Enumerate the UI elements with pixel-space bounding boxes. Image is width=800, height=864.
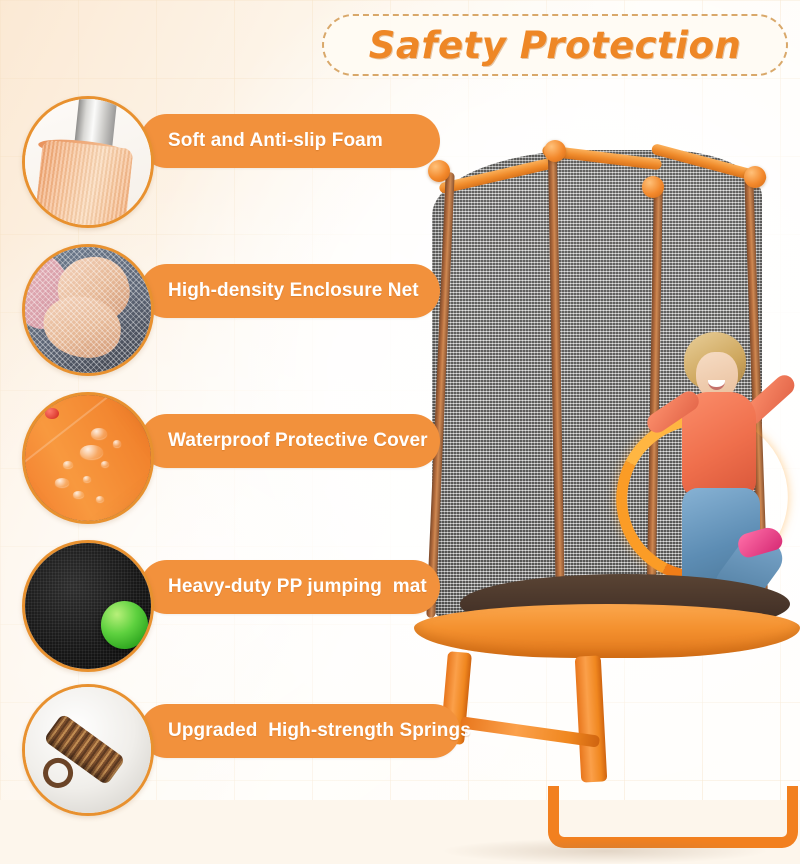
page-title: Safety Protection <box>369 24 741 67</box>
feature-label-3: Waterproof Protective Cover <box>168 430 428 452</box>
water-droplets-on-orange-fabric-icon <box>25 395 151 521</box>
feature-pill-4[interactable]: Heavy-duty PP jumping mat <box>140 560 440 614</box>
feature-thumbnail-5[interactable] <box>22 684 154 816</box>
feature-pill-3[interactable]: Waterproof Protective Cover <box>140 414 440 468</box>
feature-pill-2[interactable]: High-density Enclosure Net <box>140 264 440 318</box>
feature-label-5: Upgraded High-strength Springs <box>168 720 471 742</box>
water-drop <box>63 461 73 469</box>
trampoline-leg-mid <box>575 655 608 782</box>
feature-thumbnail-4[interactable] <box>22 540 154 672</box>
frame-safety-pad <box>414 604 800 658</box>
feature-thumbnail-2[interactable] <box>22 244 154 376</box>
foam-sleeve-on-pole-icon <box>25 99 151 225</box>
pole-cap-left <box>428 160 450 182</box>
feature-label-4: Heavy-duty PP jumping mat <box>168 576 427 598</box>
water-drop <box>83 476 91 482</box>
water-drop <box>101 461 110 467</box>
feature-label-2: High-density Enclosure Net <box>168 280 419 302</box>
red-accent-dot <box>45 408 59 419</box>
feature-pill-1[interactable]: Soft and Anti-slip Foam <box>140 114 440 168</box>
page-title-badge: Safety Protection <box>322 14 788 76</box>
mesh-overlay <box>25 247 151 373</box>
feature-label-1: Soft and Anti-slip Foam <box>168 130 383 152</box>
pole-cap-mid <box>642 176 664 198</box>
coiled-steel-spring-icon <box>25 687 151 813</box>
feature-thumbnail-1[interactable] <box>22 96 154 228</box>
floor-shadow <box>440 838 770 864</box>
green-ball-shape <box>101 601 149 649</box>
pole-cap-right <box>744 166 766 188</box>
foam-sleeve-shape <box>33 140 133 228</box>
hands-pressing-mesh-net-icon <box>25 247 151 373</box>
green-ball-on-black-mat-icon <box>25 543 151 669</box>
water-drop <box>55 478 69 487</box>
product-image <box>400 96 800 800</box>
pole-cap-mid-left <box>544 140 566 162</box>
feature-thumbnail-3[interactable] <box>22 392 154 524</box>
water-drop <box>113 440 121 446</box>
water-drop <box>91 428 107 439</box>
feature-pill-5[interactable]: Upgraded High-strength Springs <box>140 704 460 758</box>
